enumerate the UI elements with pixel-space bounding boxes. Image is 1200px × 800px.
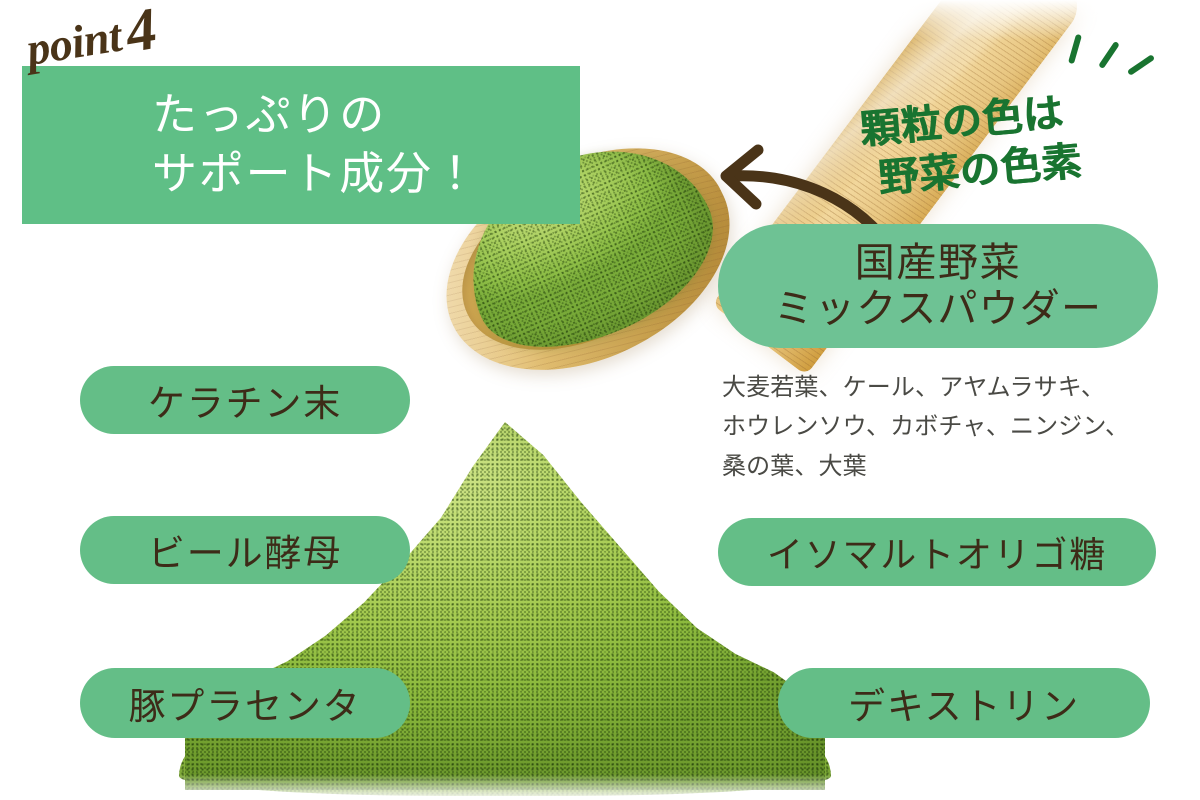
ingredient-pill-keratin[interactable]: ケラチン末 [80, 366, 410, 434]
ingredient-pill-placenta[interactable]: 豚プラセンタ [80, 668, 410, 738]
edge-fade-right [1166, 0, 1200, 800]
main-ingredient-pill[interactable]: 国産野菜 ミックスパウダー [718, 224, 1158, 348]
main-ingredient-pill-line-2: ミックスパウダー [774, 286, 1102, 332]
edge-fade-bottom [0, 774, 1200, 800]
point-badge-word: point [23, 10, 125, 75]
spark-stroke [1068, 34, 1082, 64]
fineprint-line: 桑の葉、大葉 [722, 447, 1152, 486]
fineprint-line: ホウレンソウ、カボチャ、ニンジン、 [722, 407, 1152, 446]
spark-stroke [1127, 54, 1155, 76]
ingredient-pill-isomalto-oligosaccharide[interactable]: イソマルトオリゴ糖 [718, 518, 1156, 586]
headline-banner: たっぷりの サポート成分！ [22, 66, 580, 224]
headline-line-1: たっぷりの [152, 86, 386, 145]
promo-graphic: たっぷりの サポート成分！ point4 顆粒の色は 野菜の色素 国産野菜 ミッ… [0, 0, 1200, 800]
ingredient-pill-brewers-yeast[interactable]: ビール酵母 [80, 516, 410, 584]
ingredient-fineprint: 大麦若葉、ケール、アヤムラサキ、 ホウレンソウ、カボチャ、ニンジン、 桑の葉、大… [722, 368, 1152, 486]
edge-fade-top [0, 0, 1200, 40]
fineprint-line: 大麦若葉、ケール、アヤムラサキ、 [722, 368, 1152, 407]
headline-line-2: サポート成分！ [152, 145, 480, 204]
emphasis-sparks-icon [1064, 24, 1184, 94]
ingredient-pill-dextrin[interactable]: デキストリン [778, 668, 1150, 738]
main-ingredient-pill-line-1: 国産野菜 [855, 240, 1021, 286]
spark-stroke [1098, 41, 1120, 69]
